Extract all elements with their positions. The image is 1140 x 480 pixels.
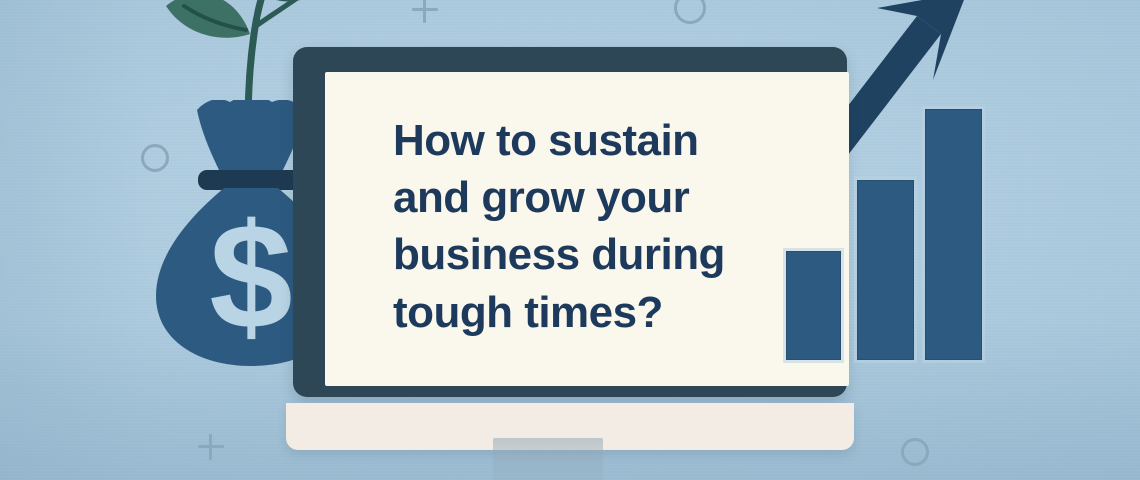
deco-plus-top <box>412 0 438 23</box>
monitor-stand <box>493 438 603 480</box>
deco-plus-bottom-left <box>198 434 224 460</box>
deco-ring-bottom-right <box>901 438 929 466</box>
chart-bar-2 <box>857 180 914 360</box>
chart-bar-3 <box>925 109 982 360</box>
bar-chart <box>770 0 1070 360</box>
monitor-bezel: How to sustain and grow your business du… <box>293 47 847 397</box>
chart-bar-1 <box>786 251 841 360</box>
poster-canvas: $ How to sustain and grow your business … <box>0 0 1140 480</box>
plant-leaf-right <box>270 0 330 1</box>
headline-text: How to sustain and grow your business du… <box>393 112 813 341</box>
